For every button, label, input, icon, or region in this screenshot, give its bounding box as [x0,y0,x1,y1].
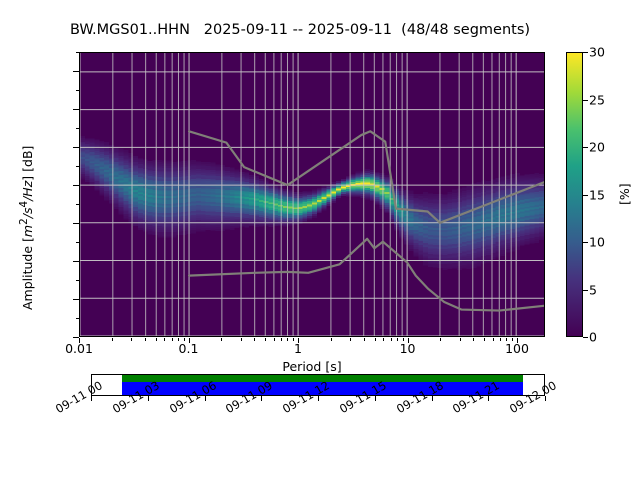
ppsd-density-canvas [80,53,544,336]
x-minor-tick [164,338,165,341]
colorbar-tick [583,100,588,101]
ppsd-figure: BW.MGS01..HHN 2025-09-11 -- 2025-09-11 (… [0,0,640,480]
colorbar-tick-label: 30 [589,45,605,60]
x-minor-tick [112,338,113,341]
y-tick [73,261,79,262]
y-tick [73,147,79,148]
colorbar-tick [583,195,588,196]
x-minor-tick [241,338,242,341]
colorbar [566,52,583,337]
y-minor-tick [76,166,79,167]
colorbar-title: [%] [617,183,632,205]
x-minor-tick [274,338,275,341]
colorbar-tick-label: 0 [589,330,597,345]
colorbar-tick [583,242,588,243]
x-minor-tick [460,338,461,341]
colorbar-tick [583,147,588,148]
x-tick-label: 10 [400,341,416,356]
x-minor-tick [391,338,392,341]
colorbar-tick-label: 25 [589,92,605,107]
colorbar-tick [583,290,588,291]
x-axis-title: Period [s] [0,359,624,374]
x-minor-tick [364,338,365,341]
x-minor-tick [397,338,398,341]
x-minor-tick [331,338,332,341]
x-tick-label: 1 [294,341,302,356]
x-minor-tick [440,338,441,341]
colorbar-tick-label: 5 [589,282,597,297]
x-minor-tick [145,338,146,341]
x-minor-tick [493,338,494,341]
y-tick [73,299,79,300]
x-tick-label: 0.1 [179,341,199,356]
x-minor-tick [254,338,255,341]
colorbar-tick-label: 10 [589,235,605,250]
y-minor-tick [76,318,79,319]
y-minor-tick [76,280,79,281]
ppsd-plot-area[interactable] [79,52,545,337]
x-minor-tick [375,338,376,341]
colorbar-tick [583,337,588,338]
x-minor-tick [156,338,157,341]
x-minor-tick [484,338,485,341]
colorbar-tick [583,52,588,53]
y-minor-tick [76,204,79,205]
x-minor-tick [221,338,222,341]
page-title: BW.MGS01..HHN 2025-09-11 -- 2025-09-11 (… [0,22,600,38]
y-tick [73,185,79,186]
x-minor-tick [383,338,384,341]
x-minor-tick [287,338,288,341]
time-tick-label: 09-11 00 [53,378,105,416]
y-minor-tick [76,242,79,243]
y-minor-tick [76,90,79,91]
colorbar-tick-label: 20 [589,140,605,155]
x-minor-tick [281,338,282,341]
x-tick-label: 100 [505,341,529,356]
colorbar-tick-label: 15 [589,187,605,202]
x-minor-tick [172,338,173,341]
y-tick [73,109,79,110]
x-minor-tick [473,338,474,341]
x-minor-tick [265,338,266,341]
x-minor-tick [350,338,351,341]
x-tick-label: 0.01 [65,341,93,356]
y-tick [73,71,79,72]
y-tick [73,223,79,224]
y-minor-tick [76,52,79,53]
x-minor-tick [500,338,501,341]
y-minor-tick [76,128,79,129]
x-minor-tick [131,338,132,341]
ppsd-plot-clip [80,53,544,336]
y-axis-title: Amplitude [m2/s4/Hz] [dB] [18,146,35,310]
